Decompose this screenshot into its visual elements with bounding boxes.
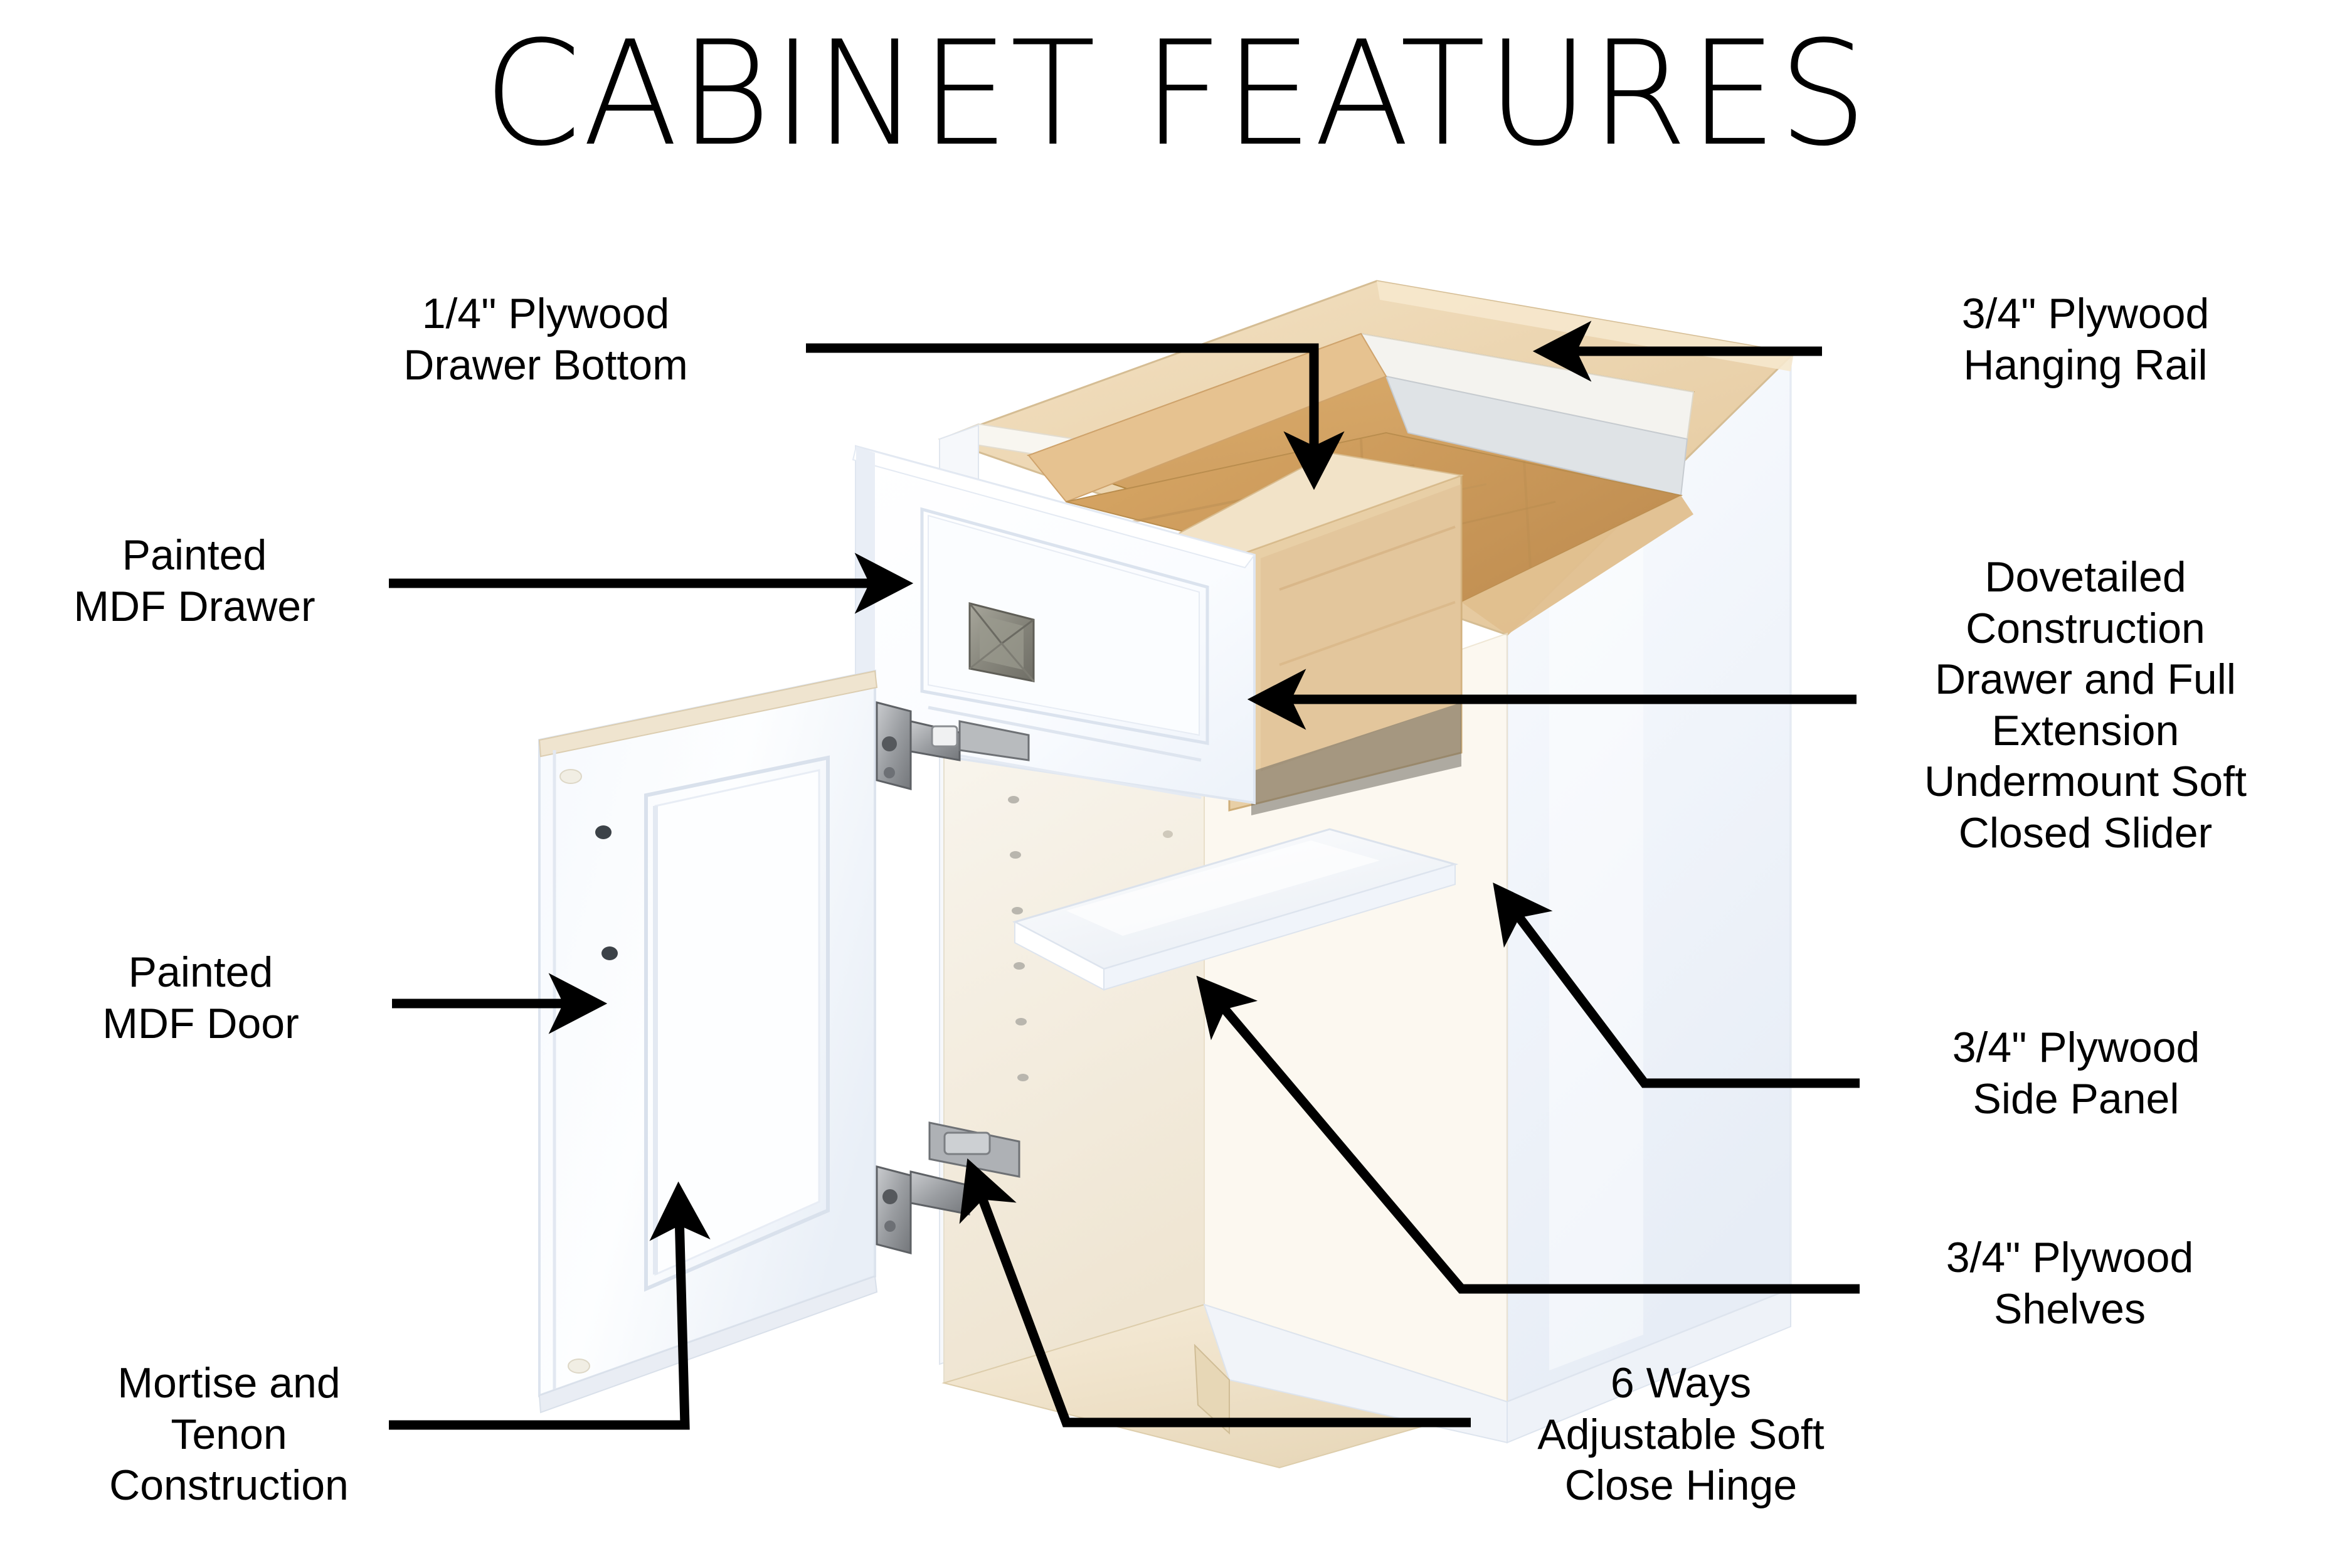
callout-painted-mdf-drawer: Painted MDF Drawer (38, 530, 351, 632)
hinge-screw-bottom (601, 946, 618, 960)
door-bumper-top (560, 770, 581, 783)
callout-plywood-drawer-bottom: 1/4" Plywood Drawer Bottom (351, 289, 740, 391)
callout-painted-mdf-door: Painted MDF Door (66, 947, 336, 1049)
callout-mortise-and-tenon: Mortise and Tenon Construction (53, 1358, 405, 1512)
callout-plywood-shelves: 3/4" Plywood Shelves (1869, 1232, 2270, 1335)
callout-plywood-side-panel: 3/4" Plywood Side Panel (1869, 1022, 2283, 1125)
poster-canvas: CABINET FEATURES (0, 0, 2352, 1568)
callout-adjustable-soft-close-hinge: 6 Ways Adjustable Soft Close Hinge (1480, 1358, 1882, 1512)
door-bumper-bottom (568, 1359, 590, 1373)
painted-mdf-door (539, 671, 877, 1412)
callout-dovetailed-construction: Dovetailed Construction Drawer and Full … (1866, 552, 2305, 859)
hinge-screw-top (595, 825, 612, 839)
callout-plywood-hanging-rail: 3/4" Plywood Hanging Rail (1869, 289, 2302, 391)
